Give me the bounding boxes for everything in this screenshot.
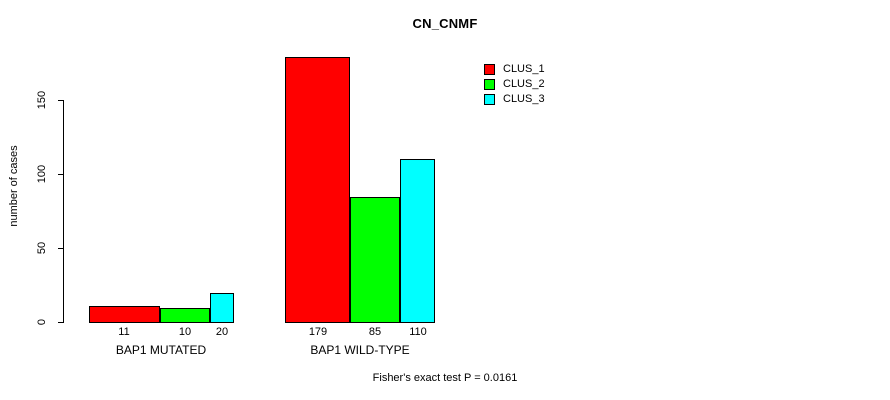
y-axis-tick-label-0: 0 <box>36 315 48 329</box>
y-axis-tick-50 <box>58 248 64 249</box>
bar-group2-clus2[interactable] <box>350 197 400 323</box>
legend-swatch-clus3 <box>484 94 495 105</box>
bar-value-group2-clus3: 110 <box>388 326 448 338</box>
legend-swatch-clus2 <box>484 79 495 90</box>
legend-label-clus1: CLUS_1 <box>503 63 545 75</box>
legend-swatch-clus1 <box>484 64 495 75</box>
y-axis-line <box>63 100 64 323</box>
y-axis-tick-label-50: 50 <box>36 237 48 259</box>
bar-group1-clus1[interactable] <box>89 306 160 323</box>
bar-value-group2-clus1: 179 <box>288 326 348 338</box>
y-axis-tick-100 <box>58 174 64 175</box>
y-axis-tick-0 <box>58 322 64 323</box>
y-axis-tick-label-150: 150 <box>36 85 48 115</box>
bar-value-group1-clus1: 11 <box>94 326 154 338</box>
legend-label-clus3: CLUS_3 <box>503 93 545 105</box>
statistical-test-annotation: Fisher's exact test P = 0.0161 <box>0 372 890 384</box>
bar-group2-clus3[interactable] <box>400 159 435 323</box>
bar-value-group1-clus3: 20 <box>192 326 252 338</box>
y-axis-label: number of cases <box>8 116 20 256</box>
y-axis-tick-150 <box>58 100 64 101</box>
page-title: CN_CNMF <box>0 16 890 31</box>
y-axis-tick-label-100: 100 <box>36 159 48 189</box>
legend-label-clus2: CLUS_2 <box>503 78 545 90</box>
chart-canvas: CN_CNMF number of cases 150 100 50 0 11 … <box>0 0 890 400</box>
group-label-bap1-mutated: BAP1 MUTATED <box>81 343 241 357</box>
bar-group1-clus3[interactable] <box>210 293 234 323</box>
group-label-bap1-wild-type: BAP1 WILD-TYPE <box>280 343 440 357</box>
bar-group2-clus1[interactable] <box>285 57 350 323</box>
bar-group1-clus2[interactable] <box>160 308 210 323</box>
